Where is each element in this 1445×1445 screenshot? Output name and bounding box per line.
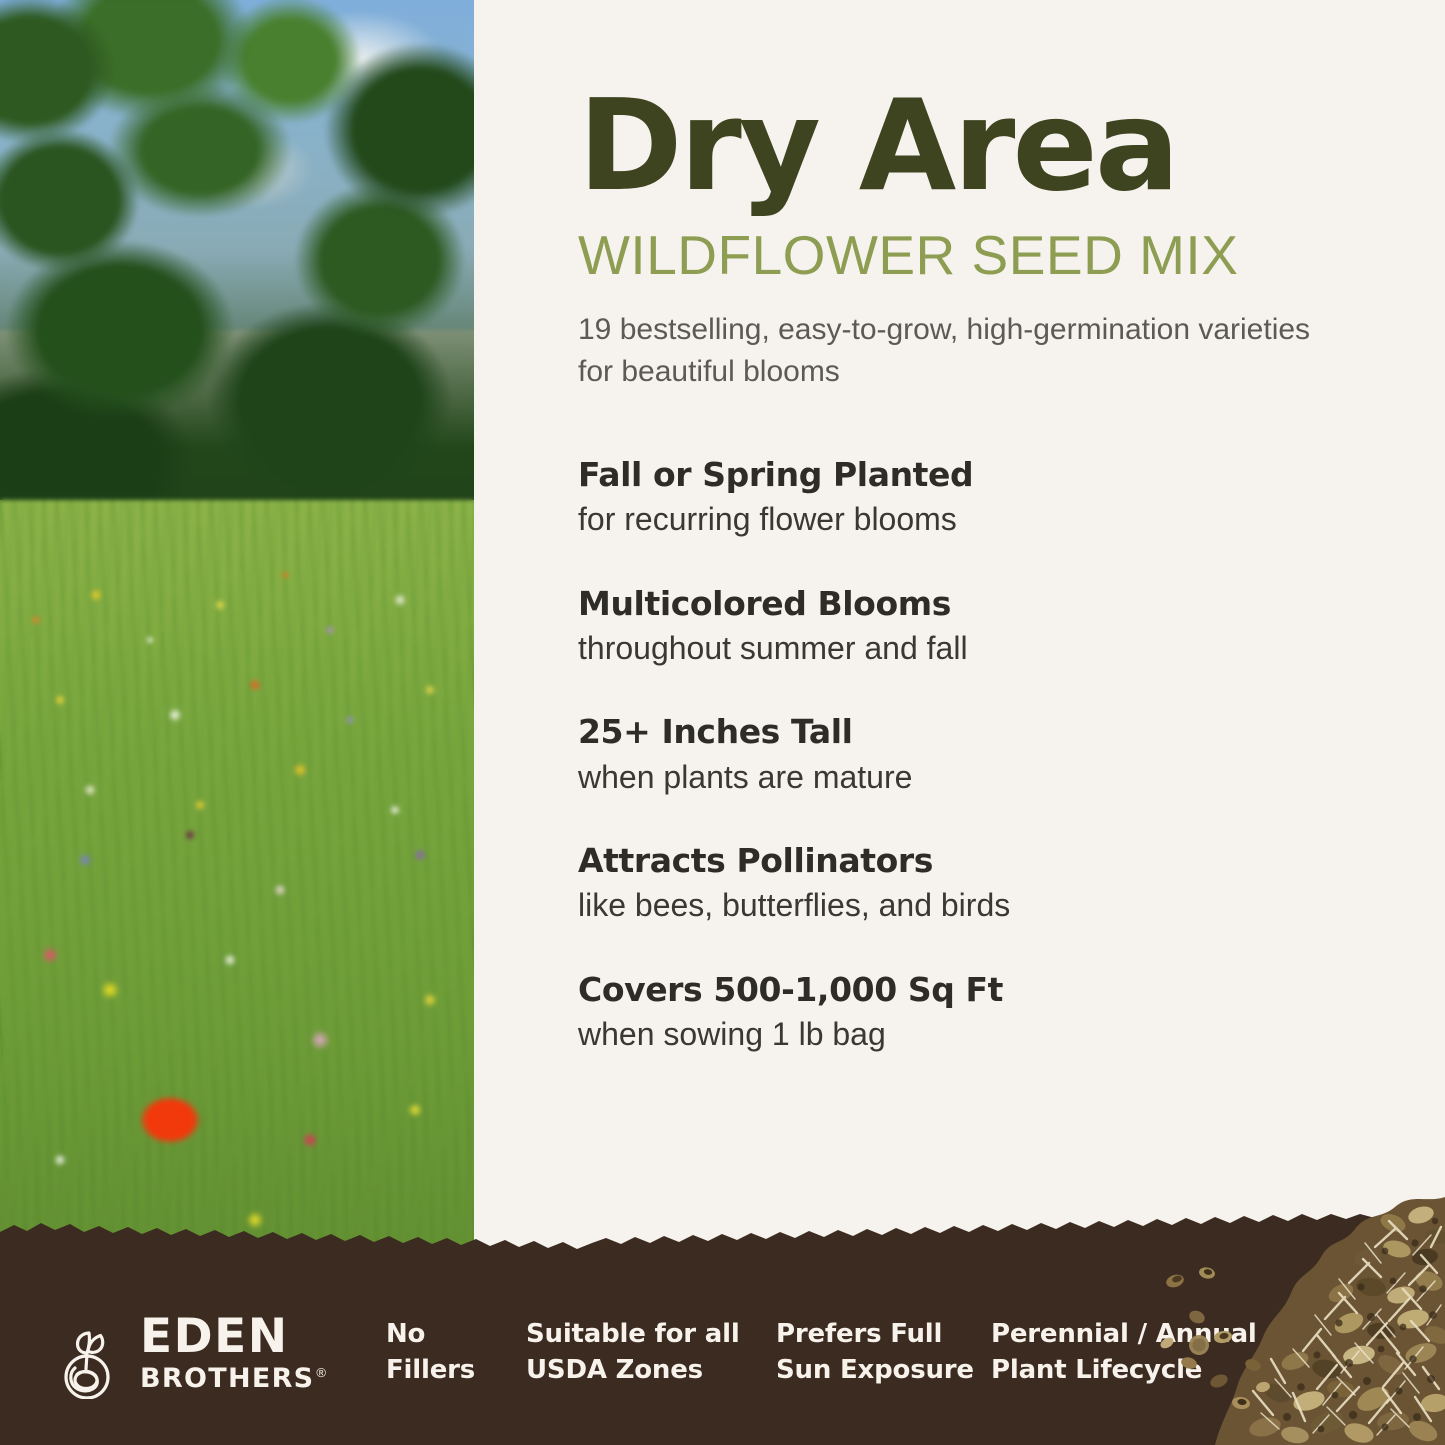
claim-line-1: Prefers Full [776, 1317, 991, 1352]
feature-subtitle: when sowing 1 lb bag [578, 1014, 1378, 1056]
footer-claims-list: No Fillers Suitable for all USDA Zones P… [386, 1317, 1251, 1387]
claim-line-1: No [386, 1317, 526, 1352]
registered-trademark-symbol: ® [316, 1366, 326, 1379]
torn-paper-edge [0, 1214, 1445, 1260]
claim-line-2: Fillers [386, 1353, 526, 1388]
product-subtitle: WILDFLOWER SEED MIX [578, 223, 1378, 287]
feature-title: Attracts Pollinators [578, 840, 1378, 882]
footer-claim-usda-zones: Suitable for all USDA Zones [526, 1317, 776, 1387]
product-content: Dry Area WILDFLOWER SEED MIX 19 bestsell… [578, 82, 1378, 1098]
footer-claim-sun-exposure: Prefers Full Sun Exposure [776, 1317, 991, 1387]
brand-name-secondary-row: BROTHERS ® [140, 1365, 326, 1392]
product-infographic: Dry Area WILDFLOWER SEED MIX 19 bestsell… [0, 0, 1445, 1445]
feature-item: Attracts Pollinators like bees, butterfl… [578, 840, 1378, 927]
product-description: 19 bestselling, easy-to-grow, high-germi… [578, 309, 1318, 394]
brand-name-secondary: BROTHERS [140, 1365, 314, 1392]
wildflower-meadow-photo [0, 0, 474, 1300]
feature-title: Fall or Spring Planted [578, 454, 1378, 496]
feature-item: Multicolored Blooms throughout summer an… [578, 583, 1378, 670]
feature-title: 25+ Inches Tall [578, 711, 1378, 753]
claim-line-1: Perennial / Annual [991, 1317, 1251, 1352]
feature-subtitle: for recurring flower blooms [578, 499, 1378, 541]
footer-claim-plant-lifecycle: Perennial / Annual Plant Lifecycle [991, 1317, 1251, 1387]
feature-list: Fall or Spring Planted for recurring flo… [578, 454, 1378, 1056]
seedling-sprout-icon [48, 1307, 126, 1399]
brand-wordmark: EDEN BROTHERS ® [140, 1313, 326, 1392]
feature-subtitle: throughout summer and fall [578, 628, 1378, 670]
feature-title: Multicolored Blooms [578, 583, 1378, 625]
claim-line-2: Plant Lifecycle [991, 1353, 1251, 1388]
feature-item: 25+ Inches Tall when plants are mature [578, 711, 1378, 798]
feature-item: Fall or Spring Planted for recurring flo… [578, 454, 1378, 541]
eden-brothers-logo[interactable]: EDEN BROTHERS ® [48, 1307, 328, 1399]
page-title: Dry Area [578, 82, 1378, 211]
claim-line-2: Sun Exposure [776, 1353, 991, 1388]
photo-softening-overlay [0, 0, 474, 1300]
brand-name-primary: EDEN [140, 1313, 326, 1360]
claim-line-1: Suitable for all [526, 1317, 776, 1352]
footer-content: EDEN BROTHERS ® No Fillers Suitable for … [0, 1260, 1445, 1445]
feature-title: Covers 500-1,000 Sq Ft [578, 969, 1378, 1011]
footer-claim-no-fillers: No Fillers [386, 1317, 526, 1387]
feature-item: Covers 500-1,000 Sq Ft when sowing 1 lb … [578, 969, 1378, 1056]
feature-subtitle: like bees, butterflies, and birds [578, 885, 1378, 927]
feature-subtitle: when plants are mature [578, 757, 1378, 799]
claim-line-2: USDA Zones [526, 1353, 776, 1388]
